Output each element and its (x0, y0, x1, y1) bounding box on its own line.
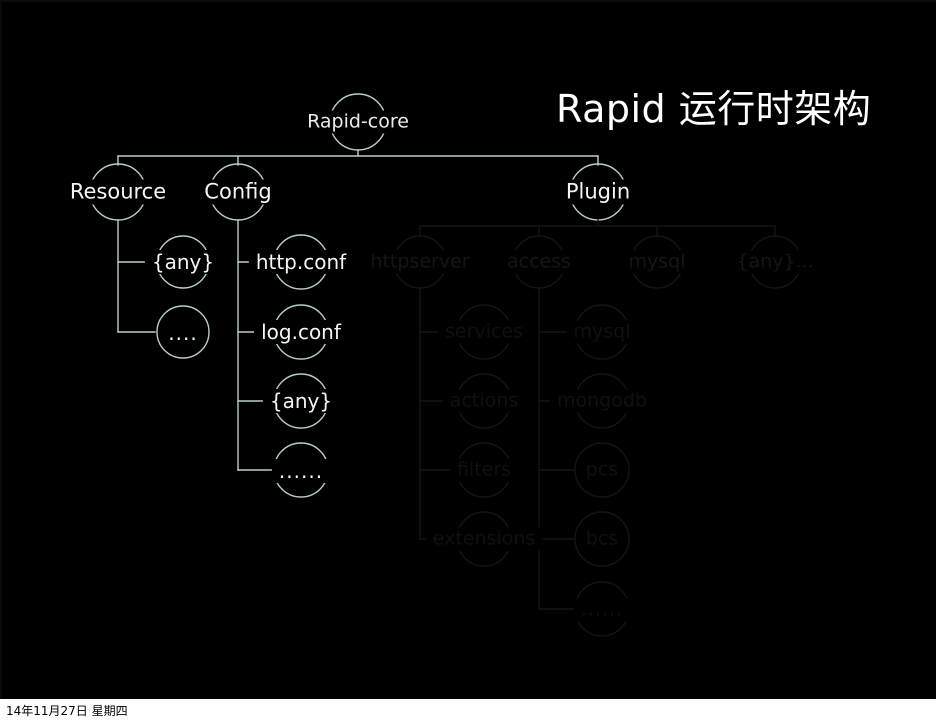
node-actions[interactable]: actions (450, 392, 518, 411)
node-pcs[interactable]: pcs (586, 461, 618, 480)
node-bcs[interactable]: bcs (586, 530, 618, 549)
node-extensions[interactable]: extensions (433, 530, 536, 549)
node-config-more[interactable]: ...... (279, 461, 323, 481)
node-config-any[interactable]: {any} (270, 391, 332, 411)
node-access-more[interactable]: ...... (581, 601, 623, 620)
footer-bar (0, 699, 936, 720)
node-resource-any[interactable]: {any} (152, 252, 214, 272)
node-log-conf[interactable]: log.conf (261, 322, 341, 342)
node-httpserver[interactable]: httpserver (370, 253, 469, 272)
node-access[interactable]: access (507, 253, 571, 272)
node-plugin[interactable]: Plugin (566, 182, 630, 203)
node-filters[interactable]: filters (457, 461, 511, 480)
node-mongodb[interactable]: mongodb (557, 392, 647, 411)
node-rapid-core[interactable]: Rapid-core (307, 113, 409, 132)
tree-connectors (0, 0, 936, 700)
node-plugin-any[interactable]: {any}... (736, 253, 813, 272)
footer-date: 14年11月27日 星期四 (6, 702, 128, 719)
node-plugin-mysql[interactable]: mysql (629, 253, 686, 272)
node-access-mysql[interactable]: mysql (574, 323, 631, 342)
node-http-conf[interactable]: http.conf (256, 252, 346, 272)
node-services[interactable]: services (445, 323, 523, 342)
slide-canvas: Rapid 运行时架构 (0, 0, 936, 720)
node-config[interactable]: Config (204, 182, 271, 203)
node-resource[interactable]: Resource (70, 182, 166, 203)
node-resource-more[interactable]: .... (168, 323, 197, 343)
